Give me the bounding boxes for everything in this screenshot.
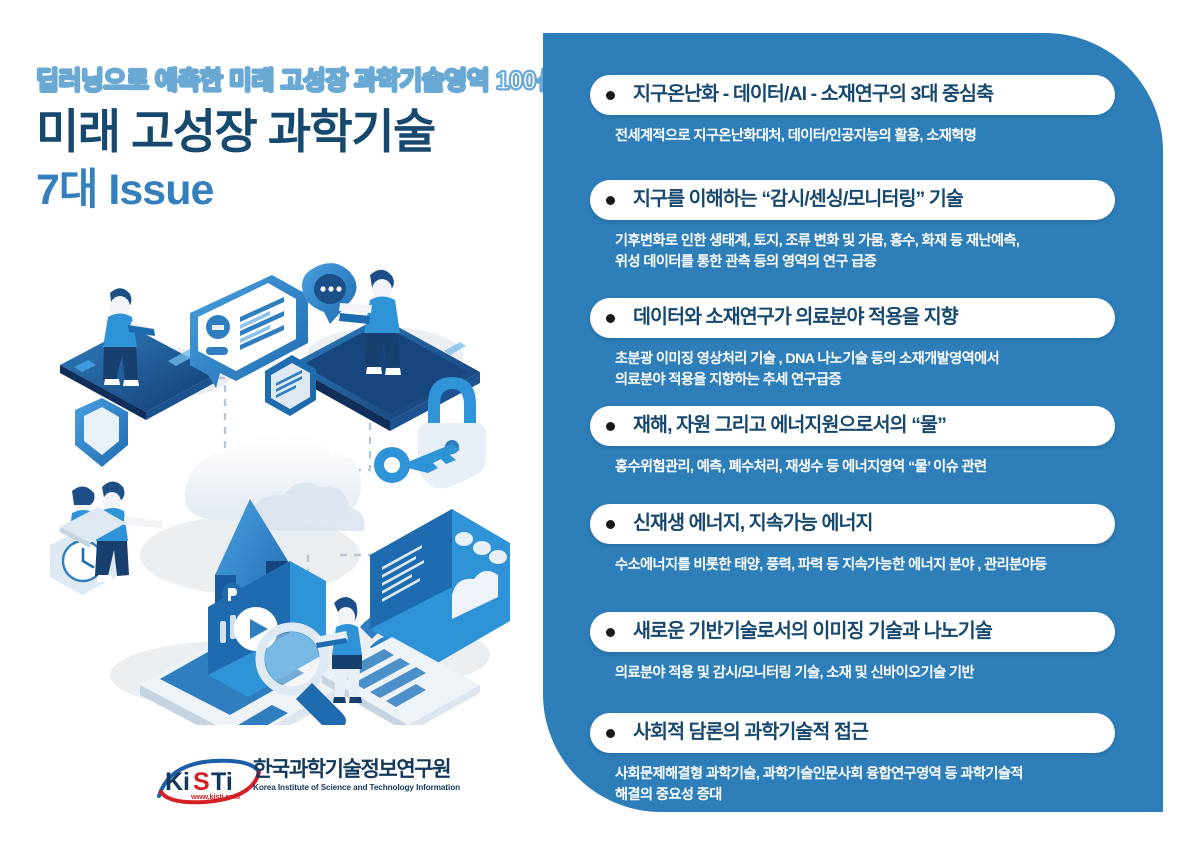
issue-pill-1[interactable]: 지구온난화 - 데이터/AI - 소재연구의 3대 중심축 bbox=[590, 75, 1115, 115]
issue-title-3: 데이터와 소재연구가 의료분야 적용을 지향 bbox=[633, 308, 958, 328]
kisti-name-en: Korea Institute of Science and Technolog… bbox=[253, 783, 453, 793]
issue-item-5: 신재생 에너지, 지속가능 에너지 수소에너지를 비롯한 태양, 풍력, 파력 … bbox=[543, 504, 1163, 576]
shield-icon bbox=[75, 398, 128, 467]
issue-description-3: 초분광 이미징 영상처리 기술 , DNA 나노기술 등의 소재개발영역에서 의… bbox=[615, 349, 1120, 390]
bullet-dot-icon bbox=[606, 196, 615, 205]
issue-description-2: 기후변화로 인한 생태계, 토지, 조류 변화 및 가뭄, 홍수, 화재 등 재… bbox=[615, 231, 1120, 272]
issue-title-5: 신재생 에너지, 지속가능 에너지 bbox=[633, 514, 873, 534]
issue-list: 지구온난화 - 데이터/AI - 소재연구의 3대 중심축 전세계적으로 지구온… bbox=[543, 33, 1163, 812]
bullet-dot-icon bbox=[606, 628, 615, 637]
issue-description-5-line-1: 수소에너지를 비롯한 태양, 풍력, 파력 등 지속가능한 에너지 분야 , 관… bbox=[615, 555, 1120, 576]
issue-description-3-line-1: 초분광 이미징 영상처리 기술 , DNA 나노기술 등의 소재개발영역에서 bbox=[615, 349, 1120, 370]
bullet-dot-icon bbox=[606, 422, 615, 431]
poster-title-line2: 7대 Issue bbox=[36, 165, 536, 217]
issue-pill-2[interactable]: 지구를 이해하는 “감시/센싱/모니터링” 기술 bbox=[590, 180, 1115, 220]
issue-description-6: 의료분야 적용 및 감시/모니터링 기술, 소재 및 신바이오기술 기반 bbox=[615, 663, 1120, 684]
issue-title-4: 재해, 자원 그리고 에너지원으로서의 “물” bbox=[633, 416, 946, 436]
issue-description-2-line-1: 기후변화로 인한 생태계, 토지, 조류 변화 및 가뭄, 홍수, 화재 등 재… bbox=[615, 231, 1120, 252]
kisti-name-ko: 한국과학기술정보연구원 bbox=[253, 758, 453, 781]
cloud-shape bbox=[185, 434, 365, 531]
issue-item-1: 지구온난화 - 데이터/AI - 소재연구의 3대 중심축 전세계적으로 지구온… bbox=[543, 75, 1163, 147]
issues-panel: 지구온난화 - 데이터/AI - 소재연구의 3대 중심축 전세계적으로 지구온… bbox=[543, 33, 1163, 812]
issue-description-6-line-1: 의료분야 적용 및 감시/모니터링 기술, 소재 및 신바이오기술 기반 bbox=[615, 663, 1120, 684]
svg-text:Ki: Ki bbox=[165, 768, 190, 796]
issue-item-2: 지구를 이해하는 “감시/센싱/모니터링” 기술 기후변화로 인한 생태계, 토… bbox=[543, 180, 1163, 272]
bullet-dot-icon bbox=[606, 729, 615, 738]
bullet-dot-icon bbox=[606, 91, 615, 100]
issue-pill-7[interactable]: 사회적 담론의 과학기술적 접근 bbox=[590, 713, 1115, 753]
issue-description-7: 사회문제해결형 과학기술, 과학기술인문사회 융합연구영역 등 과학기술적 해결… bbox=[615, 764, 1120, 805]
issue-description-7-line-1: 사회문제해결형 과학기술, 과학기술인문사회 융합연구영역 등 과학기술적 bbox=[615, 764, 1120, 785]
issue-title-1: 지구온난화 - 데이터/AI - 소재연구의 3대 중심축 bbox=[633, 85, 993, 105]
bullet-dot-icon bbox=[606, 314, 615, 323]
issue-description-4: 홍수위험관리, 예측, 폐수처리, 재생수 등 에너지영역 “물’ 이슈 관련 bbox=[615, 457, 1120, 478]
issue-description-5: 수소에너지를 비롯한 태양, 풍력, 파력 등 지속가능한 에너지 분야 , 관… bbox=[615, 555, 1120, 576]
issue-description-4-line-1: 홍수위험관리, 예측, 폐수처리, 재생수 등 에너지영역 “물’ 이슈 관련 bbox=[615, 457, 1120, 478]
poster-canvas: 딥러닝으로 예측한 미래 고성장 과학기술영역 100선 미래 고성장 과학기술… bbox=[0, 0, 1191, 842]
issue-description-2-line-2: 위성 데이터를 통한 관측 등의 영역의 연구 급증 bbox=[615, 252, 1120, 273]
issue-item-3: 데이터와 소재연구가 의료분야 적용을 지향 초분광 이미징 영상처리 기술 ,… bbox=[543, 298, 1163, 390]
issue-pill-3[interactable]: 데이터와 소재연구가 의료분야 적용을 지향 bbox=[590, 298, 1115, 338]
issue-title-2: 지구를 이해하는 “감시/센싱/모니터링” 기술 bbox=[633, 190, 963, 210]
isometric-cloud-illustration bbox=[40, 255, 510, 725]
kisti-logo: Ki S Ti www.kisti.re.kr 한국과학기술정보연구원 Kore… bbox=[155, 752, 455, 814]
poster-eyebrow: 딥러닝으로 예측한 미래 고성장 과학기술영역 100선 bbox=[36, 68, 536, 96]
issue-item-7: 사회적 담론의 과학기술적 접근 사회문제해결형 과학기술, 과학기술인문사회 … bbox=[543, 713, 1163, 805]
left-column: 딥러닝으로 예측한 미래 고성장 과학기술영역 100선 미래 고성장 과학기술… bbox=[0, 0, 543, 842]
issue-pill-4[interactable]: 재해, 자원 그리고 에너지원으로서의 “물” bbox=[590, 406, 1115, 446]
issue-description-7-line-2: 해결의 중요성 증대 bbox=[615, 785, 1120, 806]
kisti-url: www.kisti.re.kr bbox=[191, 792, 241, 801]
issue-title-6: 새로운 기반기술로서의 이미징 기술과 나노기술 bbox=[633, 622, 992, 642]
issue-description-1: 전세계적으로 지구온난화대처, 데이터/인공지능의 활용, 소재혁명 bbox=[615, 126, 1120, 147]
issue-pill-5[interactable]: 신재생 에너지, 지속가능 에너지 bbox=[590, 504, 1115, 544]
issue-title-7: 사회적 담론의 과학기술적 접근 bbox=[633, 723, 868, 743]
issue-description-1-line-1: 전세계적으로 지구온난화대처, 데이터/인공지능의 활용, 소재혁명 bbox=[615, 126, 1120, 147]
kisti-name-block: 한국과학기술정보연구원 Korea Institute of Science a… bbox=[253, 758, 453, 793]
poster-title-line1: 미래 고성장 과학기술 bbox=[36, 104, 536, 159]
issue-description-3-line-2: 의료분야 적용을 지향하는 추세 연구급증 bbox=[615, 370, 1120, 391]
title-block: 딥러닝으로 예측한 미래 고성장 과학기술영역 100선 미래 고성장 과학기술… bbox=[36, 68, 536, 217]
issue-item-4: 재해, 자원 그리고 에너지원으로서의 “물” 홍수위험관리, 예측, 폐수처리… bbox=[543, 406, 1163, 478]
issue-item-6: 새로운 기반기술로서의 이미징 기술과 나노기술 의료분야 적용 및 감시/모니… bbox=[543, 612, 1163, 684]
issue-pill-6[interactable]: 새로운 기반기술로서의 이미징 기술과 나노기술 bbox=[590, 612, 1115, 652]
bullet-dot-icon bbox=[606, 520, 615, 529]
